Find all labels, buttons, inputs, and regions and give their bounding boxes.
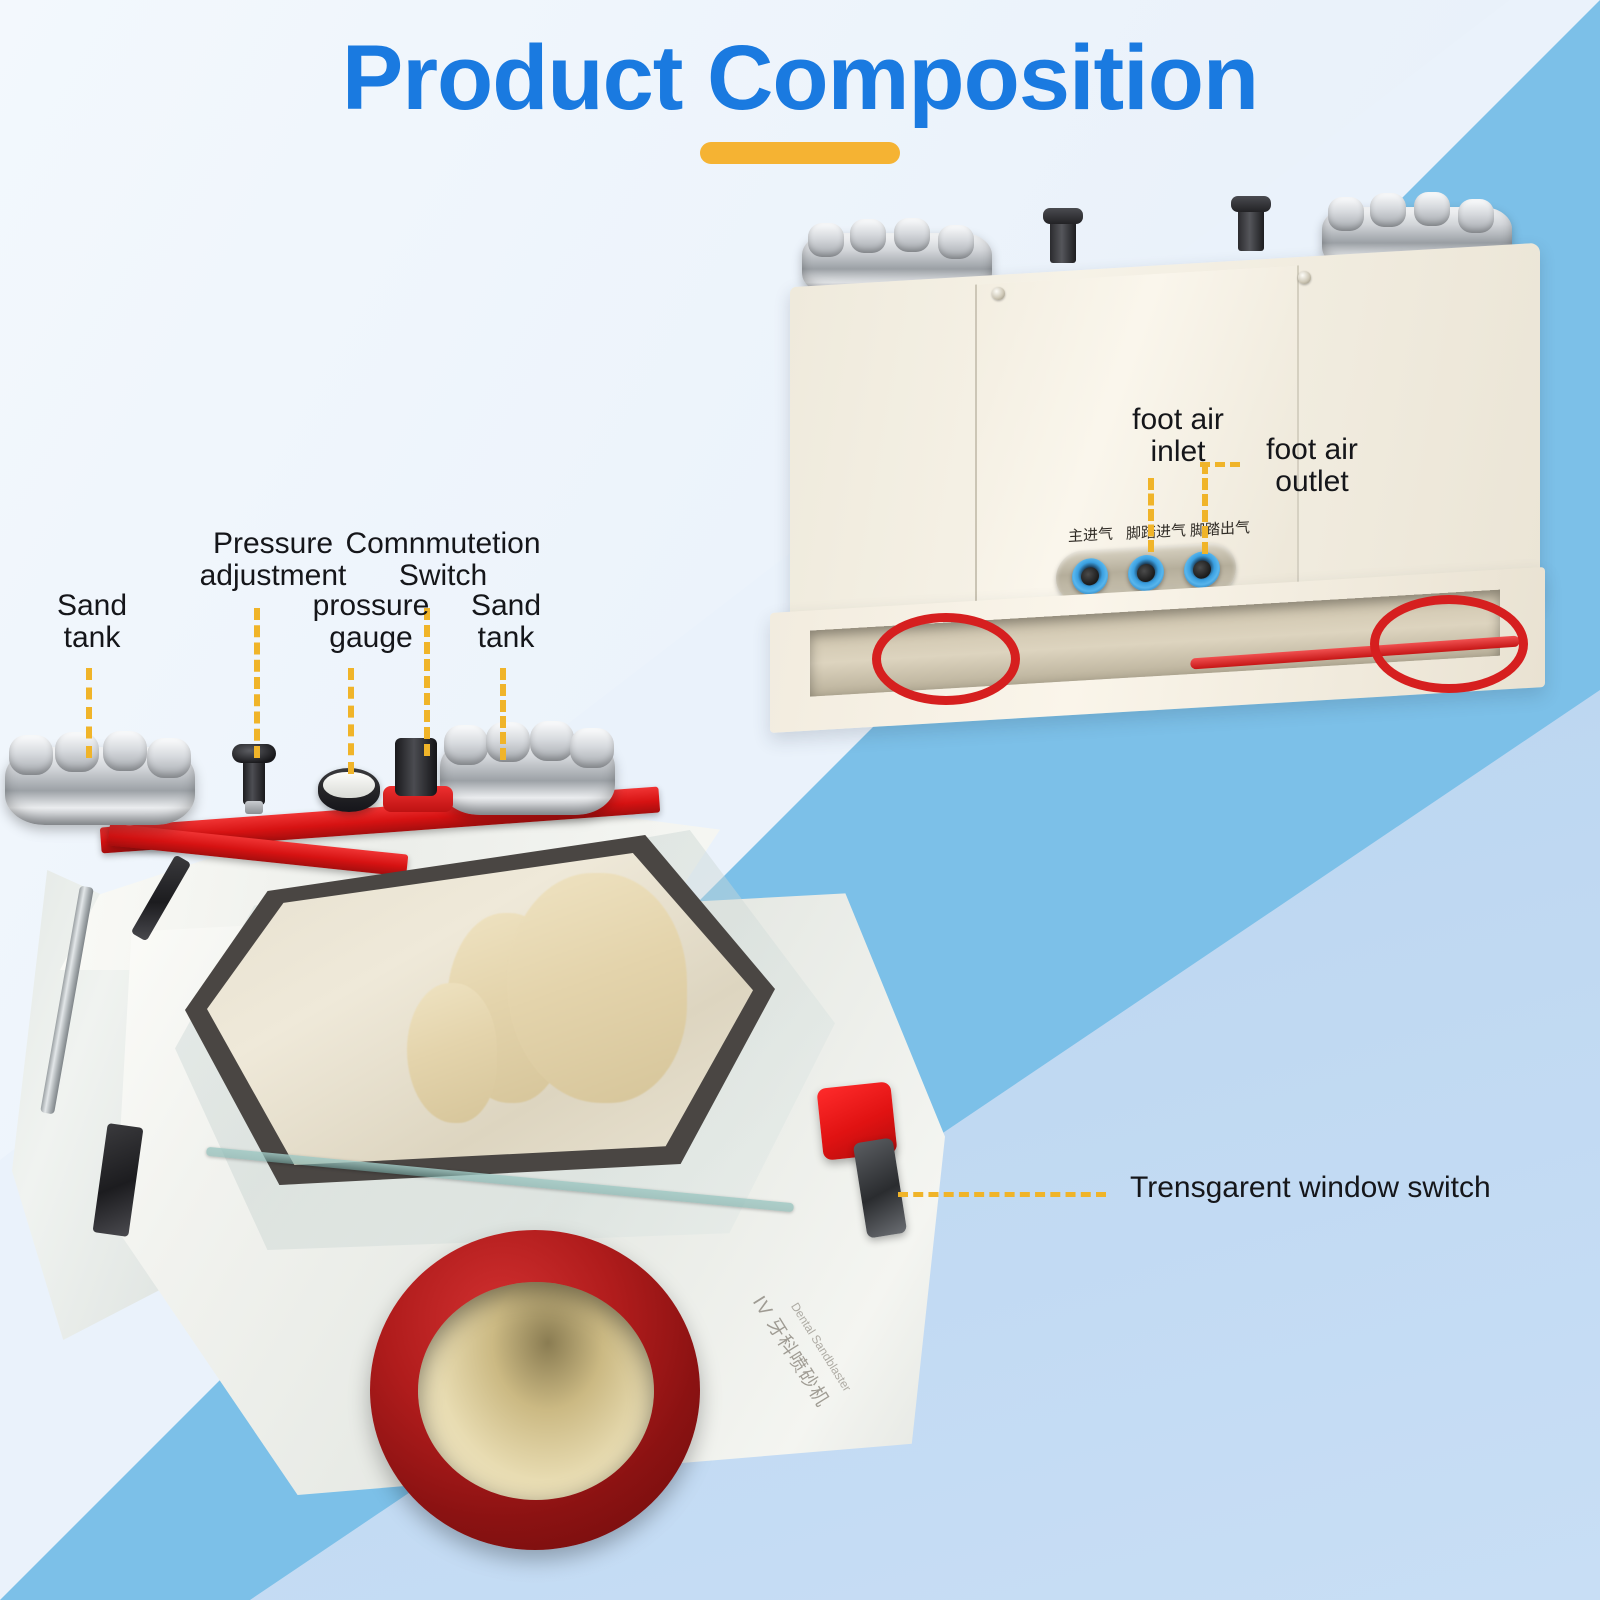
title-accent-bar xyxy=(700,142,900,164)
page-title: Product Composition xyxy=(0,30,1600,127)
rear-black-knob-right[interactable] xyxy=(1238,205,1264,251)
sand-tank-cap-main-left xyxy=(5,747,195,825)
rear-black-knob-left[interactable] xyxy=(1050,217,1076,263)
red-air-hose-right-loop xyxy=(1370,595,1528,693)
callout-transparent-window-switch: Trensgarent window switch xyxy=(1130,1172,1600,1204)
red-air-hose-left xyxy=(872,613,1020,705)
infographic-canvas: Product Composition xyxy=(0,0,1600,1600)
leader-sand-tank-right xyxy=(500,668,506,760)
sand-tank-cap-main-right xyxy=(440,737,615,815)
leader-pressure-gauge xyxy=(348,668,354,774)
panel-screw xyxy=(992,287,1005,300)
callout-pressure-gauge: prossure gauge xyxy=(282,590,460,654)
port-label-cn-pedal-outlet: 脚踏出气 xyxy=(1190,516,1250,541)
leader-transparent-window-switch xyxy=(898,1192,1106,1197)
leader-foot-air-outlet-v xyxy=(1202,462,1208,554)
glove-port-ring xyxy=(370,1230,700,1550)
leader-pressure-adjustment xyxy=(254,608,260,758)
chamber-interior xyxy=(207,853,753,1165)
glove-port-opening xyxy=(418,1282,654,1500)
callout-sand-tank-left: Sand tank xyxy=(32,590,152,654)
callout-foot-air-outlet: foot air outlet xyxy=(1232,434,1392,498)
panel-screw xyxy=(1298,271,1311,284)
leader-foot-air-inlet xyxy=(1148,478,1154,552)
callout-commutation-switch: Comnmutetion Switch xyxy=(328,528,558,592)
main-air-inlet-port[interactable] xyxy=(1072,557,1108,595)
pedal-air-inlet-port[interactable] xyxy=(1128,554,1164,592)
pressure-adjustment-knob[interactable] xyxy=(243,757,265,805)
pedal-air-outlet-port[interactable] xyxy=(1184,551,1220,589)
port-label-cn-pedal-inlet: 脚踏进气 xyxy=(1126,519,1186,544)
port-label-cn-main-inlet: 主进气 xyxy=(1068,523,1113,547)
callout-sand-tank-right: Sand tank xyxy=(446,590,566,654)
leader-sand-tank-left xyxy=(86,668,92,758)
pressure-gauge xyxy=(318,768,380,812)
commutation-switch[interactable] xyxy=(395,738,437,796)
